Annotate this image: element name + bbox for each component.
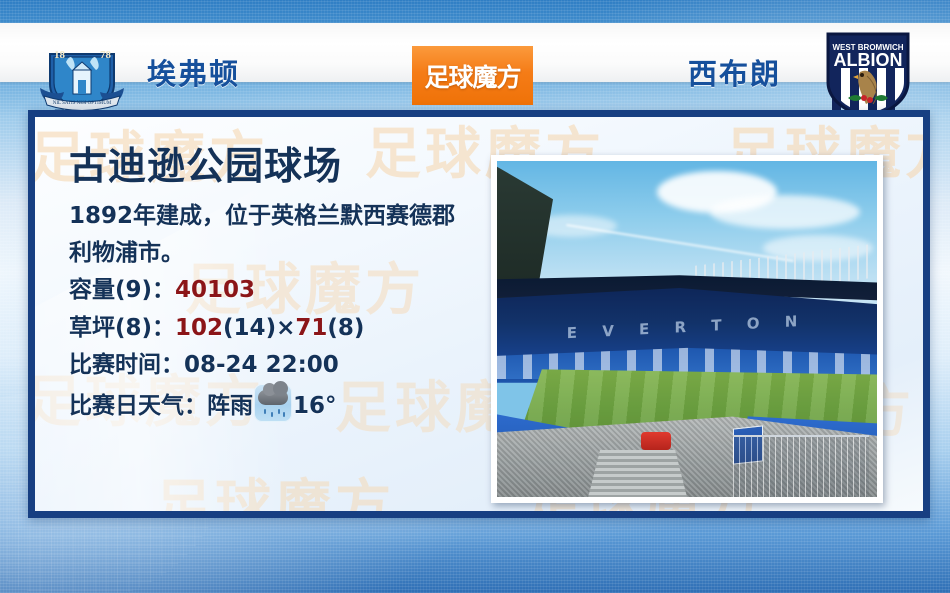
pitch-label: 草坪(8)： <box>69 315 175 341</box>
pitch-length-rank: (14) <box>223 315 276 341</box>
stadium-title: 古迪逊公园球场 <box>69 147 489 187</box>
stadium-image: E V E R T O N <box>497 161 877 497</box>
away-team-name: 西布朗 <box>688 51 781 93</box>
home-team-name: 埃弗顿 <box>147 51 240 93</box>
capacity-value: 40103 <box>175 277 255 303</box>
stadium-info-text: 古迪逊公园球场 1892年建成，位于英格兰默西赛德郡利物浦市。 容量(9)：40… <box>69 147 489 425</box>
svg-text:78: 78 <box>100 49 112 61</box>
svg-text:ALBION: ALBION <box>834 50 903 70</box>
goodison-park-photo[interactable]: E V E R T O N <box>491 155 883 503</box>
cloud <box>710 195 860 229</box>
concrete-steps <box>588 450 687 497</box>
pitch-width-rank: (8) <box>327 315 364 341</box>
pitch-length: 102 <box>175 315 223 341</box>
weather-condition: 阵雨 <box>207 393 253 419</box>
weather-temperature: 16° <box>293 393 337 419</box>
pitch-times-symbol: × <box>276 315 295 341</box>
screenshot-root: 18 78 NIL SATIS NISI OPTIMUM Everton 埃弗顿… <box>0 0 950 593</box>
capacity-label: 容量(9)： <box>69 277 175 303</box>
everton-crest: 18 78 NIL SATIS NISI OPTIMUM Everton <box>30 26 134 122</box>
match-time-row: 比赛时间：08-24 22:00 <box>69 347 489 384</box>
match-header-bar: 18 78 NIL SATIS NISI OPTIMUM Everton 埃弗顿… <box>0 23 950 82</box>
red-equipment-bag <box>641 432 671 450</box>
stadium-description: 1892年建成，位于英格兰默西赛德郡利物浦市。 <box>69 198 469 273</box>
match-time-label: 比赛时间： <box>69 352 184 378</box>
weather-label: 比赛日天气： <box>69 393 207 419</box>
pitch-row: 草坪(8)：102(14)×71(8) <box>69 310 489 347</box>
site-logo[interactable]: 足球魔方 <box>412 46 533 105</box>
weather-row: 比赛日天气：阵雨16° <box>69 384 489 425</box>
svg-text:18: 18 <box>54 49 66 61</box>
svg-text:NIL SATIS NISI OPTIMUM: NIL SATIS NISI OPTIMUM <box>53 101 112 106</box>
match-time-value: 08-24 22:00 <box>184 352 339 378</box>
watermark: 足球魔方 <box>155 461 395 518</box>
capacity-row: 容量(9)：40103 <box>69 272 489 309</box>
west-bromwich-albion-crest: WEST BROMWICH ALBION <box>812 28 924 120</box>
site-logo-text: 足球魔方 <box>424 58 520 94</box>
metal-fence <box>733 435 870 497</box>
pitch-width: 71 <box>295 315 327 341</box>
rain-shower-icon <box>254 384 292 422</box>
stadium-info-card: 足球魔方 足球魔方 足球魔方 足球魔方 足球魔方 足球魔方 足球魔方 足球魔方 … <box>28 110 930 518</box>
